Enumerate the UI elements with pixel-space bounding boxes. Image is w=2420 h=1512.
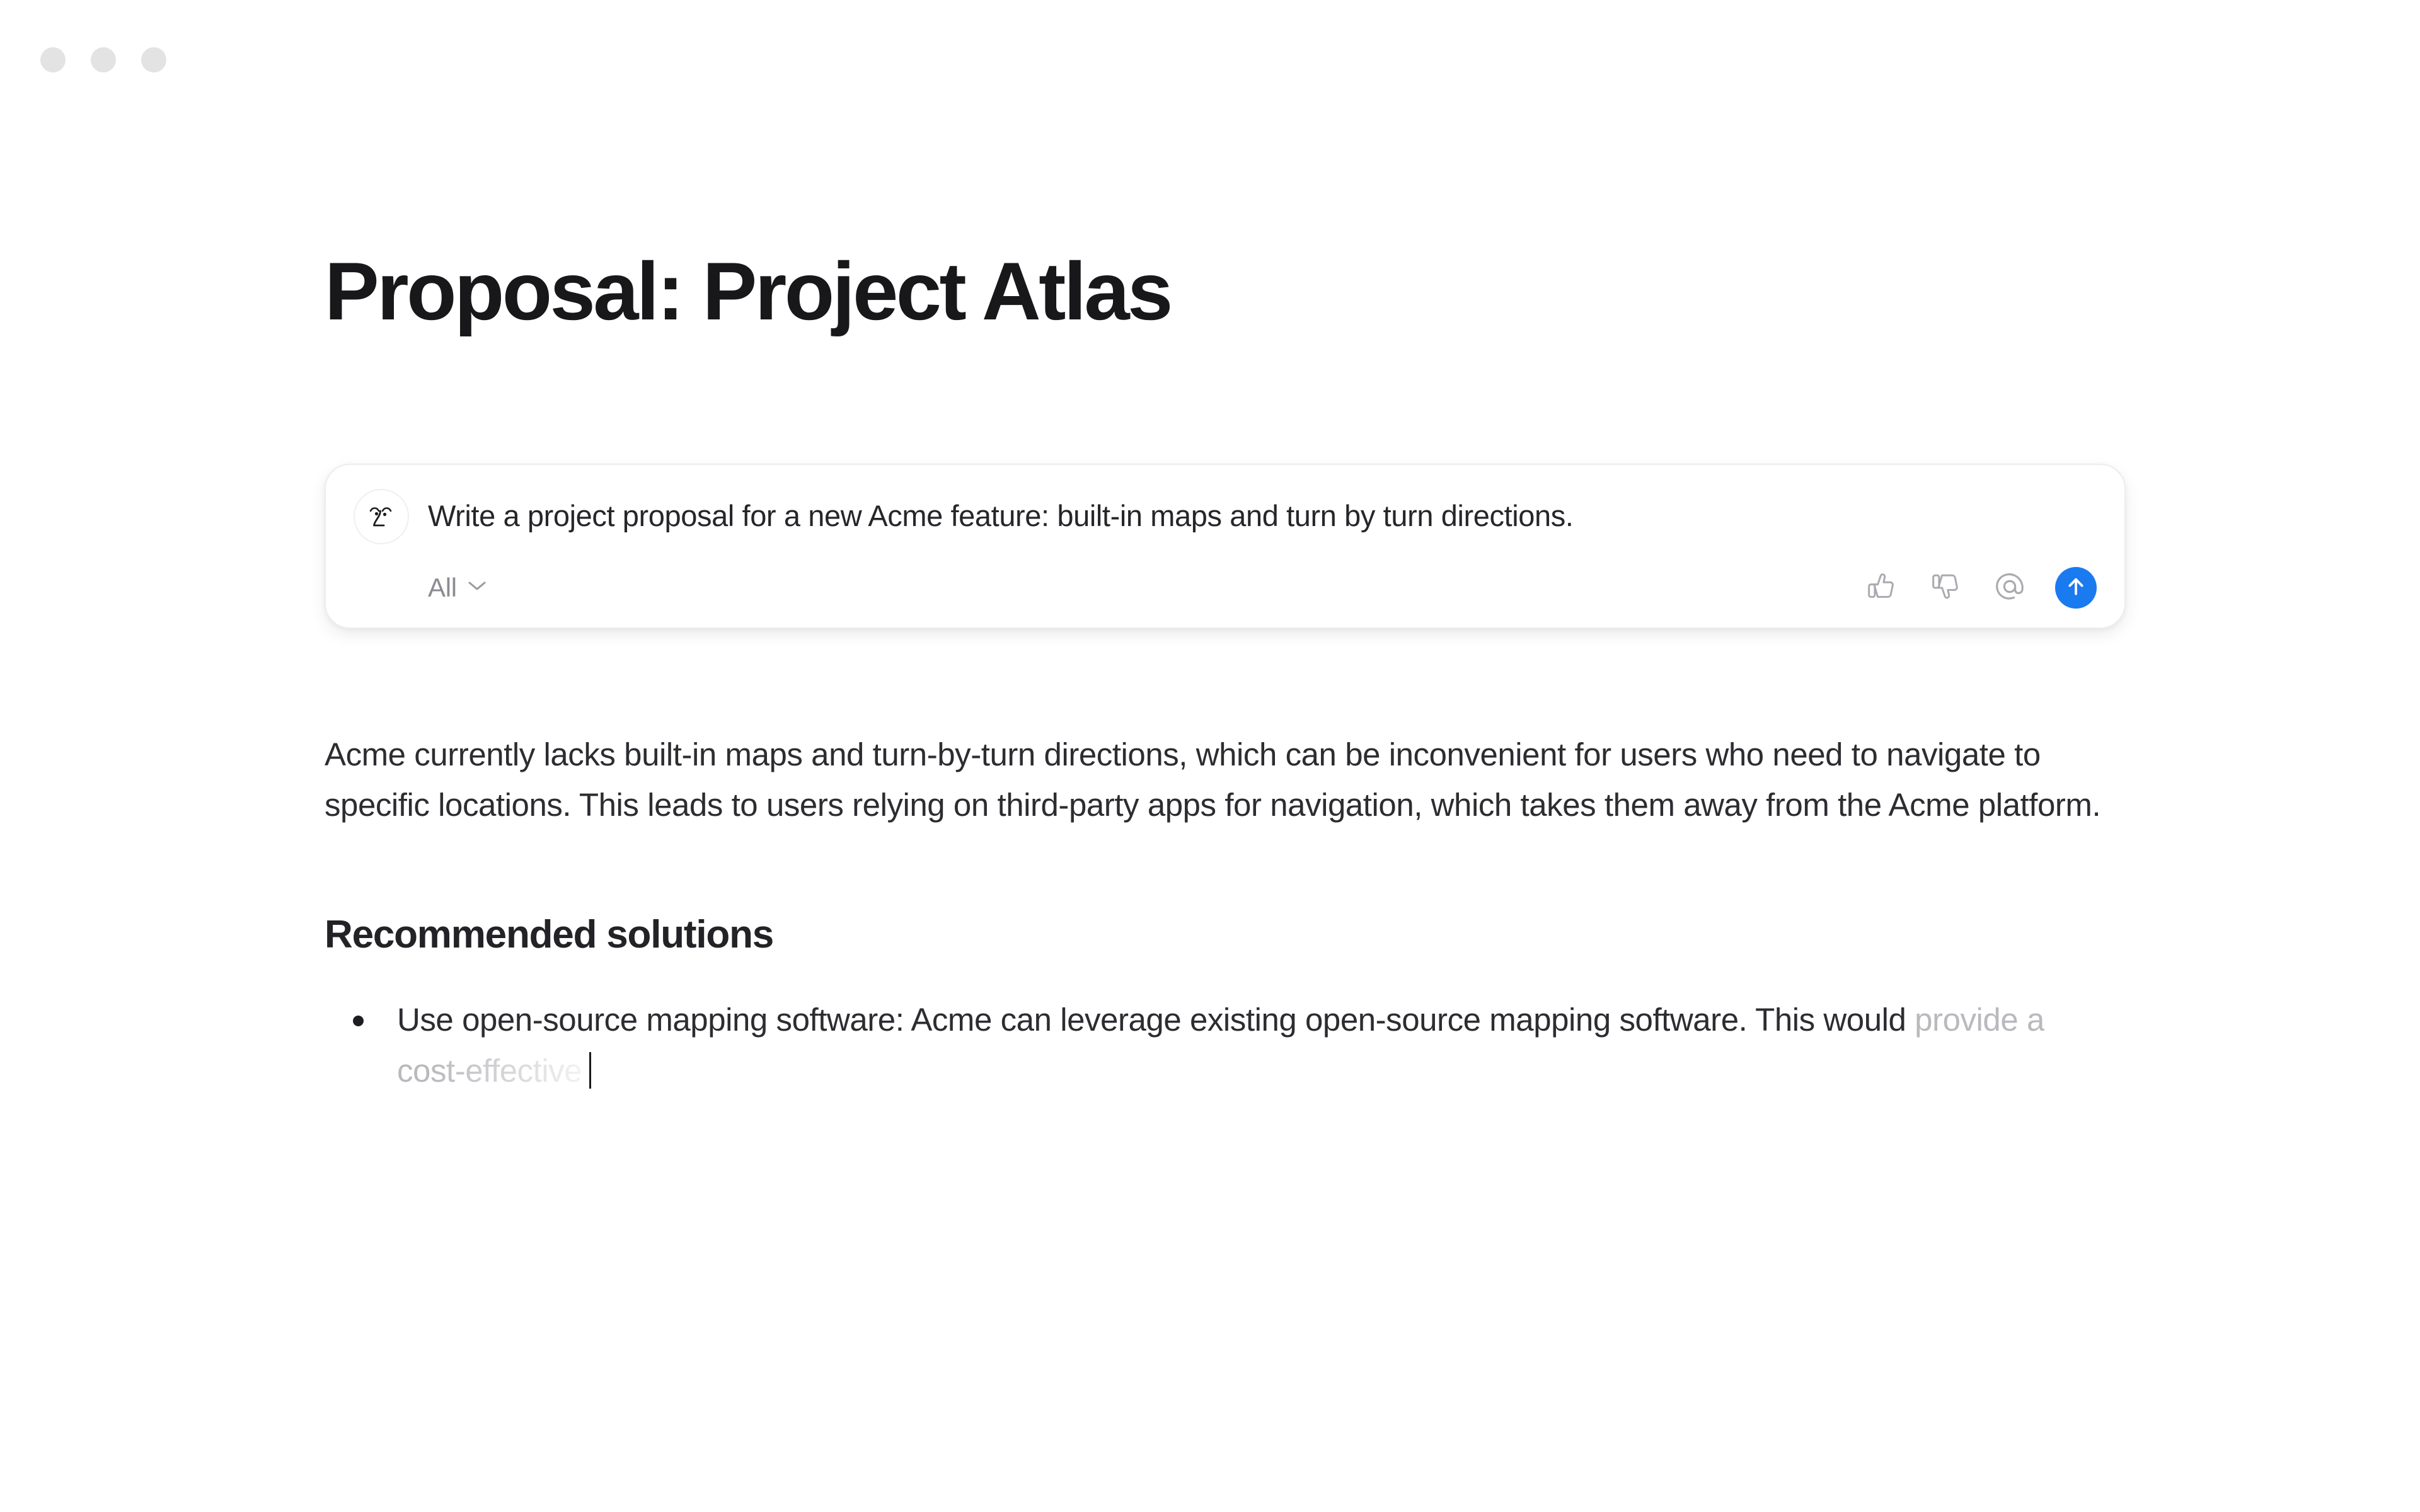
prompt-row: Write a project proposal for a new Acme … <box>354 489 2097 544</box>
list-item[interactable]: Use open-source mapping software: Acme c… <box>325 995 2108 1096</box>
chevron-down-icon <box>467 580 487 595</box>
mention-button[interactable] <box>1991 569 2029 607</box>
thumbs-up-icon <box>1864 570 1898 605</box>
zoom-window-button[interactable] <box>141 47 166 72</box>
close-window-button[interactable] <box>40 47 66 72</box>
ai-prompt-card[interactable]: Write a project proposal for a new Acme … <box>325 464 2126 629</box>
send-prompt-button[interactable] <box>2055 567 2097 609</box>
thumbs-up-button[interactable] <box>1862 569 1900 607</box>
scope-dropdown-label: All <box>428 573 457 603</box>
mention-icon <box>1992 569 2027 606</box>
assistant-face-icon <box>365 500 398 533</box>
text-cursor <box>589 1052 591 1089</box>
bullet-written-text: Use open-source mapping software: Acme c… <box>397 1002 1915 1038</box>
document-body: Proposal: Project Atlas Write <box>325 0 2133 1096</box>
prompt-text[interactable]: Write a project proposal for a new Acme … <box>428 498 1574 535</box>
thumbs-down-icon <box>1928 570 1962 605</box>
minimize-window-button[interactable] <box>91 47 116 72</box>
assistant-avatar <box>354 489 409 544</box>
intro-paragraph[interactable]: Acme currently lacks built-in maps and t… <box>325 730 2108 831</box>
traffic-light-group <box>40 47 166 72</box>
app-window: Proposal: Project Atlas Write <box>0 0 2420 1512</box>
section-heading-recommended-solutions: Recommended solutions <box>325 912 2133 958</box>
prompt-action-group <box>1862 567 2097 609</box>
prompt-toolbar: All <box>354 567 2097 609</box>
thumbs-down-button[interactable] <box>1927 569 1964 607</box>
arrow-up-icon <box>2063 574 2089 601</box>
scope-dropdown[interactable]: All <box>428 573 487 603</box>
recommended-solutions-list: Use open-source mapping software: Acme c… <box>325 995 2133 1096</box>
page-title: Proposal: Project Atlas <box>325 246 2133 338</box>
